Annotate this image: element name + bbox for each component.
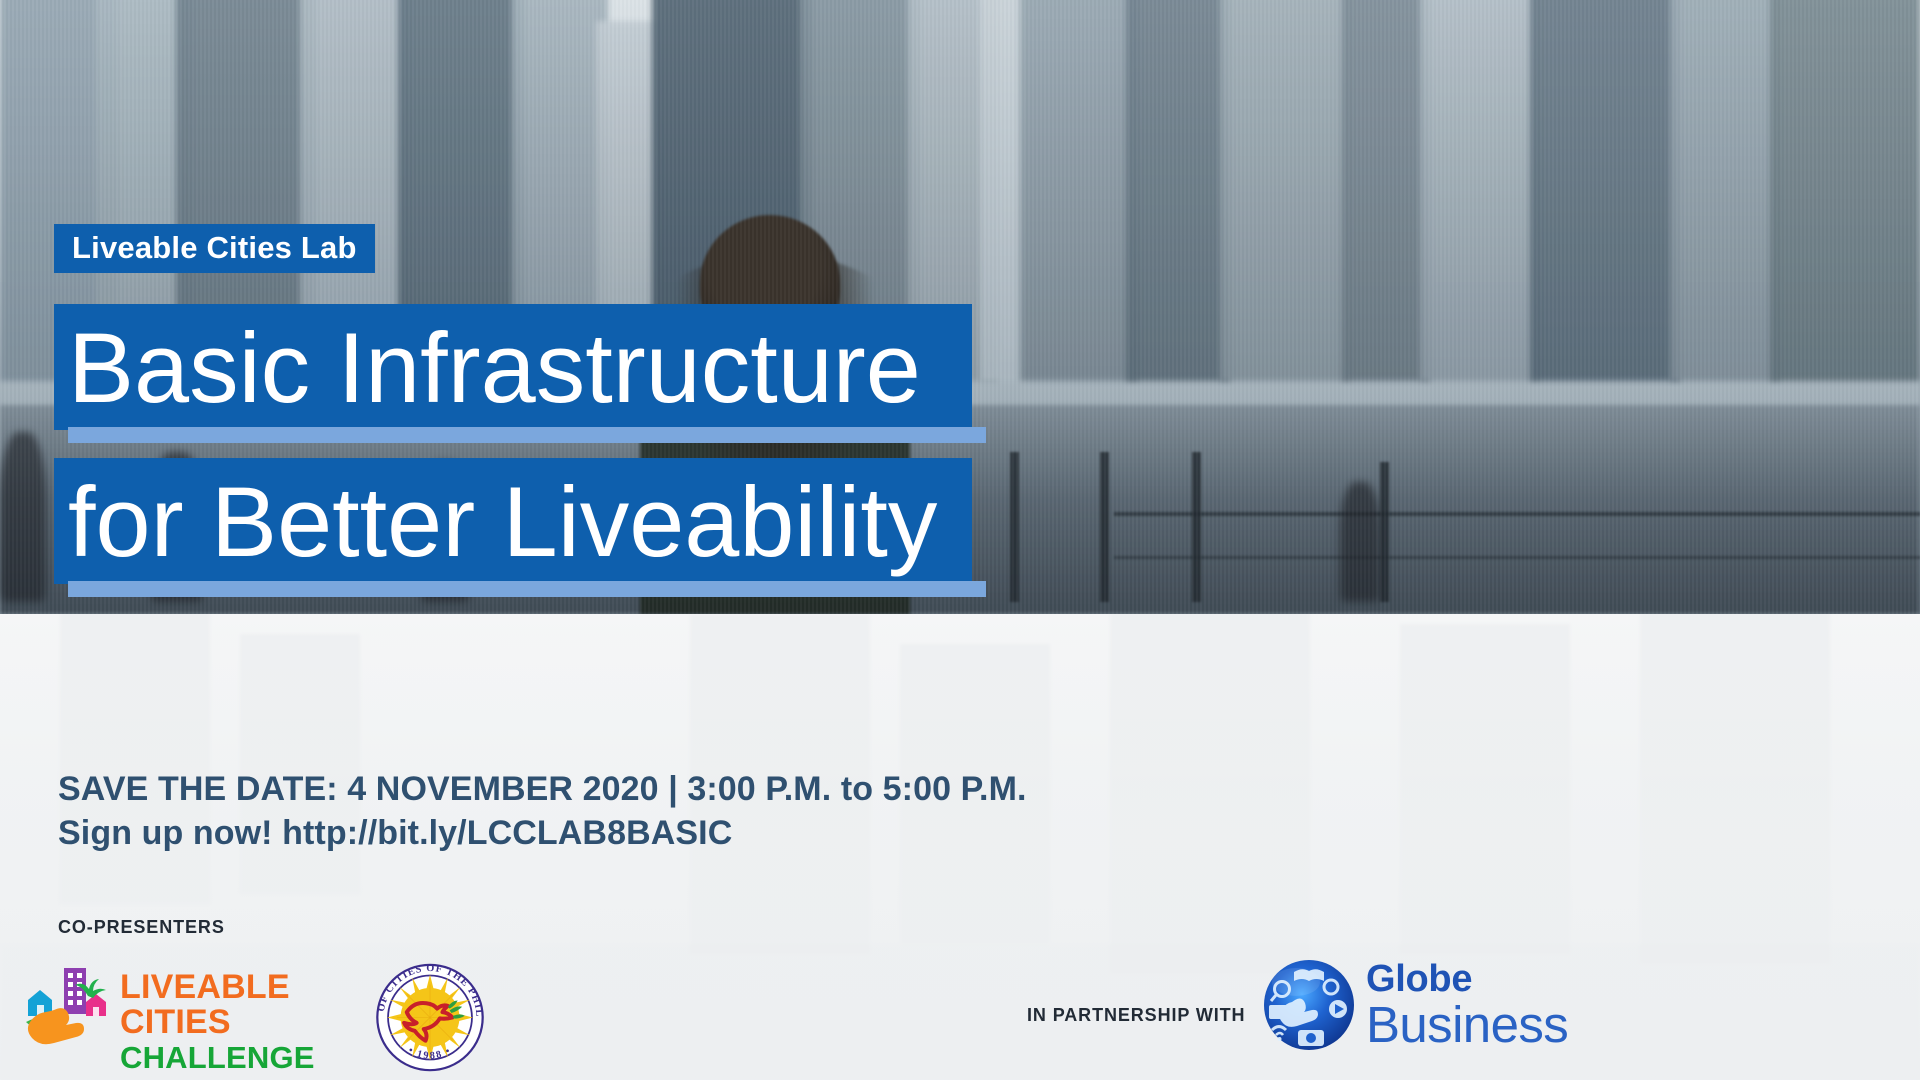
blurred-pedestrian [1340,482,1380,602]
liveable-cities-challenge-logo: LIVEABLE CITIES CHALLENGE [24,960,344,1060]
skyline-tower [1126,0,1230,381]
title-band-2-shadow [68,581,986,597]
eyebrow-label: Liveable Cities Lab [54,224,375,273]
event-poster: Liveable Cities Lab Basic Infrastructure… [0,0,1920,1080]
in-partnership-with-label: IN PARTNERSHIP WITH [1027,1005,1245,1026]
skyline-tower [1220,0,1350,381]
title-band-1-shadow [68,427,986,443]
railing-bar [1114,556,1920,559]
liveable-cities-challenge-wordmark: LIVEABLE CITIES CHALLENGE [120,970,344,1075]
title-line-2: for Better Liveability [54,458,972,584]
signup-line[interactable]: Sign up now! http://bit.ly/LCCLAB8BASIC [58,812,1027,856]
league-of-cities-seal-icon: LEAGUE OF CITIES OF THE PHILIPPINES • 19… [360,955,500,1080]
lcc-wordmark-line1: LIVEABLE CITIES [120,970,344,1039]
railing-bar [1114,512,1920,516]
skyline-tower [1420,0,1540,381]
hand-holding-city-icon [24,960,116,1056]
dock-post [1100,452,1109,602]
skyline-tower [1670,0,1780,381]
title-line-1: Basic Infrastructure [54,304,972,430]
skyline-tower [1530,0,1680,381]
save-the-date-line: SAVE THE DATE: 4 NOVEMBER 2020 | 3:00 P.… [58,768,1027,812]
globe-business-wordmark: Globe Business [1366,960,1568,1051]
dock-post [1192,452,1201,602]
skyline-tower [1770,0,1920,381]
skyline-tower [1342,0,1430,381]
globe-business-logo: Globe Business [1262,958,1592,1068]
dock-post [1010,452,1019,602]
globe-wordmark-globe: Globe [1366,960,1568,998]
blurred-pedestrian [0,432,46,602]
lcc-wordmark-line2: CHALLENGE [120,1041,344,1075]
date-and-signup-block: SAVE THE DATE: 4 NOVEMBER 2020 | 3:00 P.… [58,768,1027,855]
globe-wordmark-business: Business [1366,999,1568,1051]
co-presenters-label: CO-PRESENTERS [58,917,225,938]
globe-sphere-icon [1262,958,1356,1052]
skyline-tower [1020,0,1138,381]
dock-post [1380,462,1389,602]
